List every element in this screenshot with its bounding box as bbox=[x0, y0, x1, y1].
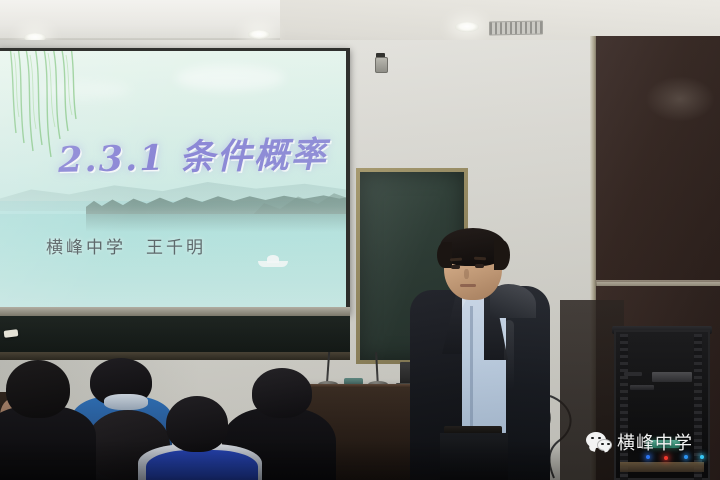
eye-left bbox=[451, 265, 460, 269]
led-blue-icon bbox=[646, 455, 650, 459]
hair-side-right bbox=[494, 240, 510, 270]
wechat-icon bbox=[586, 432, 612, 453]
rack-unit bbox=[630, 385, 654, 390]
rack-unit bbox=[652, 372, 692, 382]
projection-screen: 2.3.1 条件概率 横峰中学 王千明 bbox=[0, 48, 350, 314]
slide-cloud bbox=[175, 65, 285, 91]
jacket-highlight bbox=[504, 320, 514, 390]
teacher-figure bbox=[404, 228, 554, 480]
hair-side-left bbox=[437, 242, 452, 268]
panel-light-reflection bbox=[645, 76, 715, 122]
student-hoodie-head bbox=[166, 396, 228, 452]
watermark-label: 横峰中学 bbox=[617, 429, 693, 455]
slide-subtitle: 横峰中学 王千明 bbox=[46, 233, 206, 258]
nose bbox=[464, 269, 469, 279]
blackboard-left-strip bbox=[0, 316, 350, 354]
slide-water-reflection bbox=[86, 214, 346, 232]
wall-speaker-icon bbox=[374, 53, 387, 71]
student-far-left-head bbox=[6, 360, 70, 418]
mouth bbox=[460, 284, 476, 287]
shirt-placket bbox=[470, 306, 473, 432]
slide-cloud bbox=[40, 81, 130, 99]
wood-panel-upper bbox=[596, 36, 720, 282]
student-right-head bbox=[252, 368, 312, 418]
slide-title: 2.3.1 条件概率 bbox=[57, 126, 328, 183]
classroom-photo: 2.3.1 条件概率 横峰中学 王千明 bbox=[0, 0, 720, 480]
downlight-right-icon bbox=[455, 22, 479, 32]
rack-rail-left bbox=[620, 334, 628, 480]
downlight-center-icon bbox=[248, 30, 270, 39]
led-cyan-icon bbox=[684, 455, 688, 459]
rack-shelf bbox=[620, 462, 704, 472]
watermark: 横峰中学 bbox=[586, 429, 693, 455]
slide-surface: 2.3.1 条件概率 横峰中学 王千明 bbox=[0, 51, 346, 309]
student-hoodie-hood bbox=[146, 450, 258, 480]
screen-bottom-bar bbox=[0, 307, 350, 316]
trousers bbox=[440, 433, 508, 480]
ceiling-vent-icon bbox=[489, 21, 543, 36]
led-red-icon bbox=[664, 456, 668, 460]
student-audience bbox=[0, 352, 400, 480]
rack-unit bbox=[624, 372, 642, 376]
eye-right bbox=[475, 264, 484, 268]
eyebrow-right bbox=[474, 257, 486, 261]
student-blue-jacket-collar bbox=[104, 394, 148, 410]
slide-boat-icon bbox=[258, 255, 288, 267]
led-lightblue-icon bbox=[700, 455, 704, 459]
